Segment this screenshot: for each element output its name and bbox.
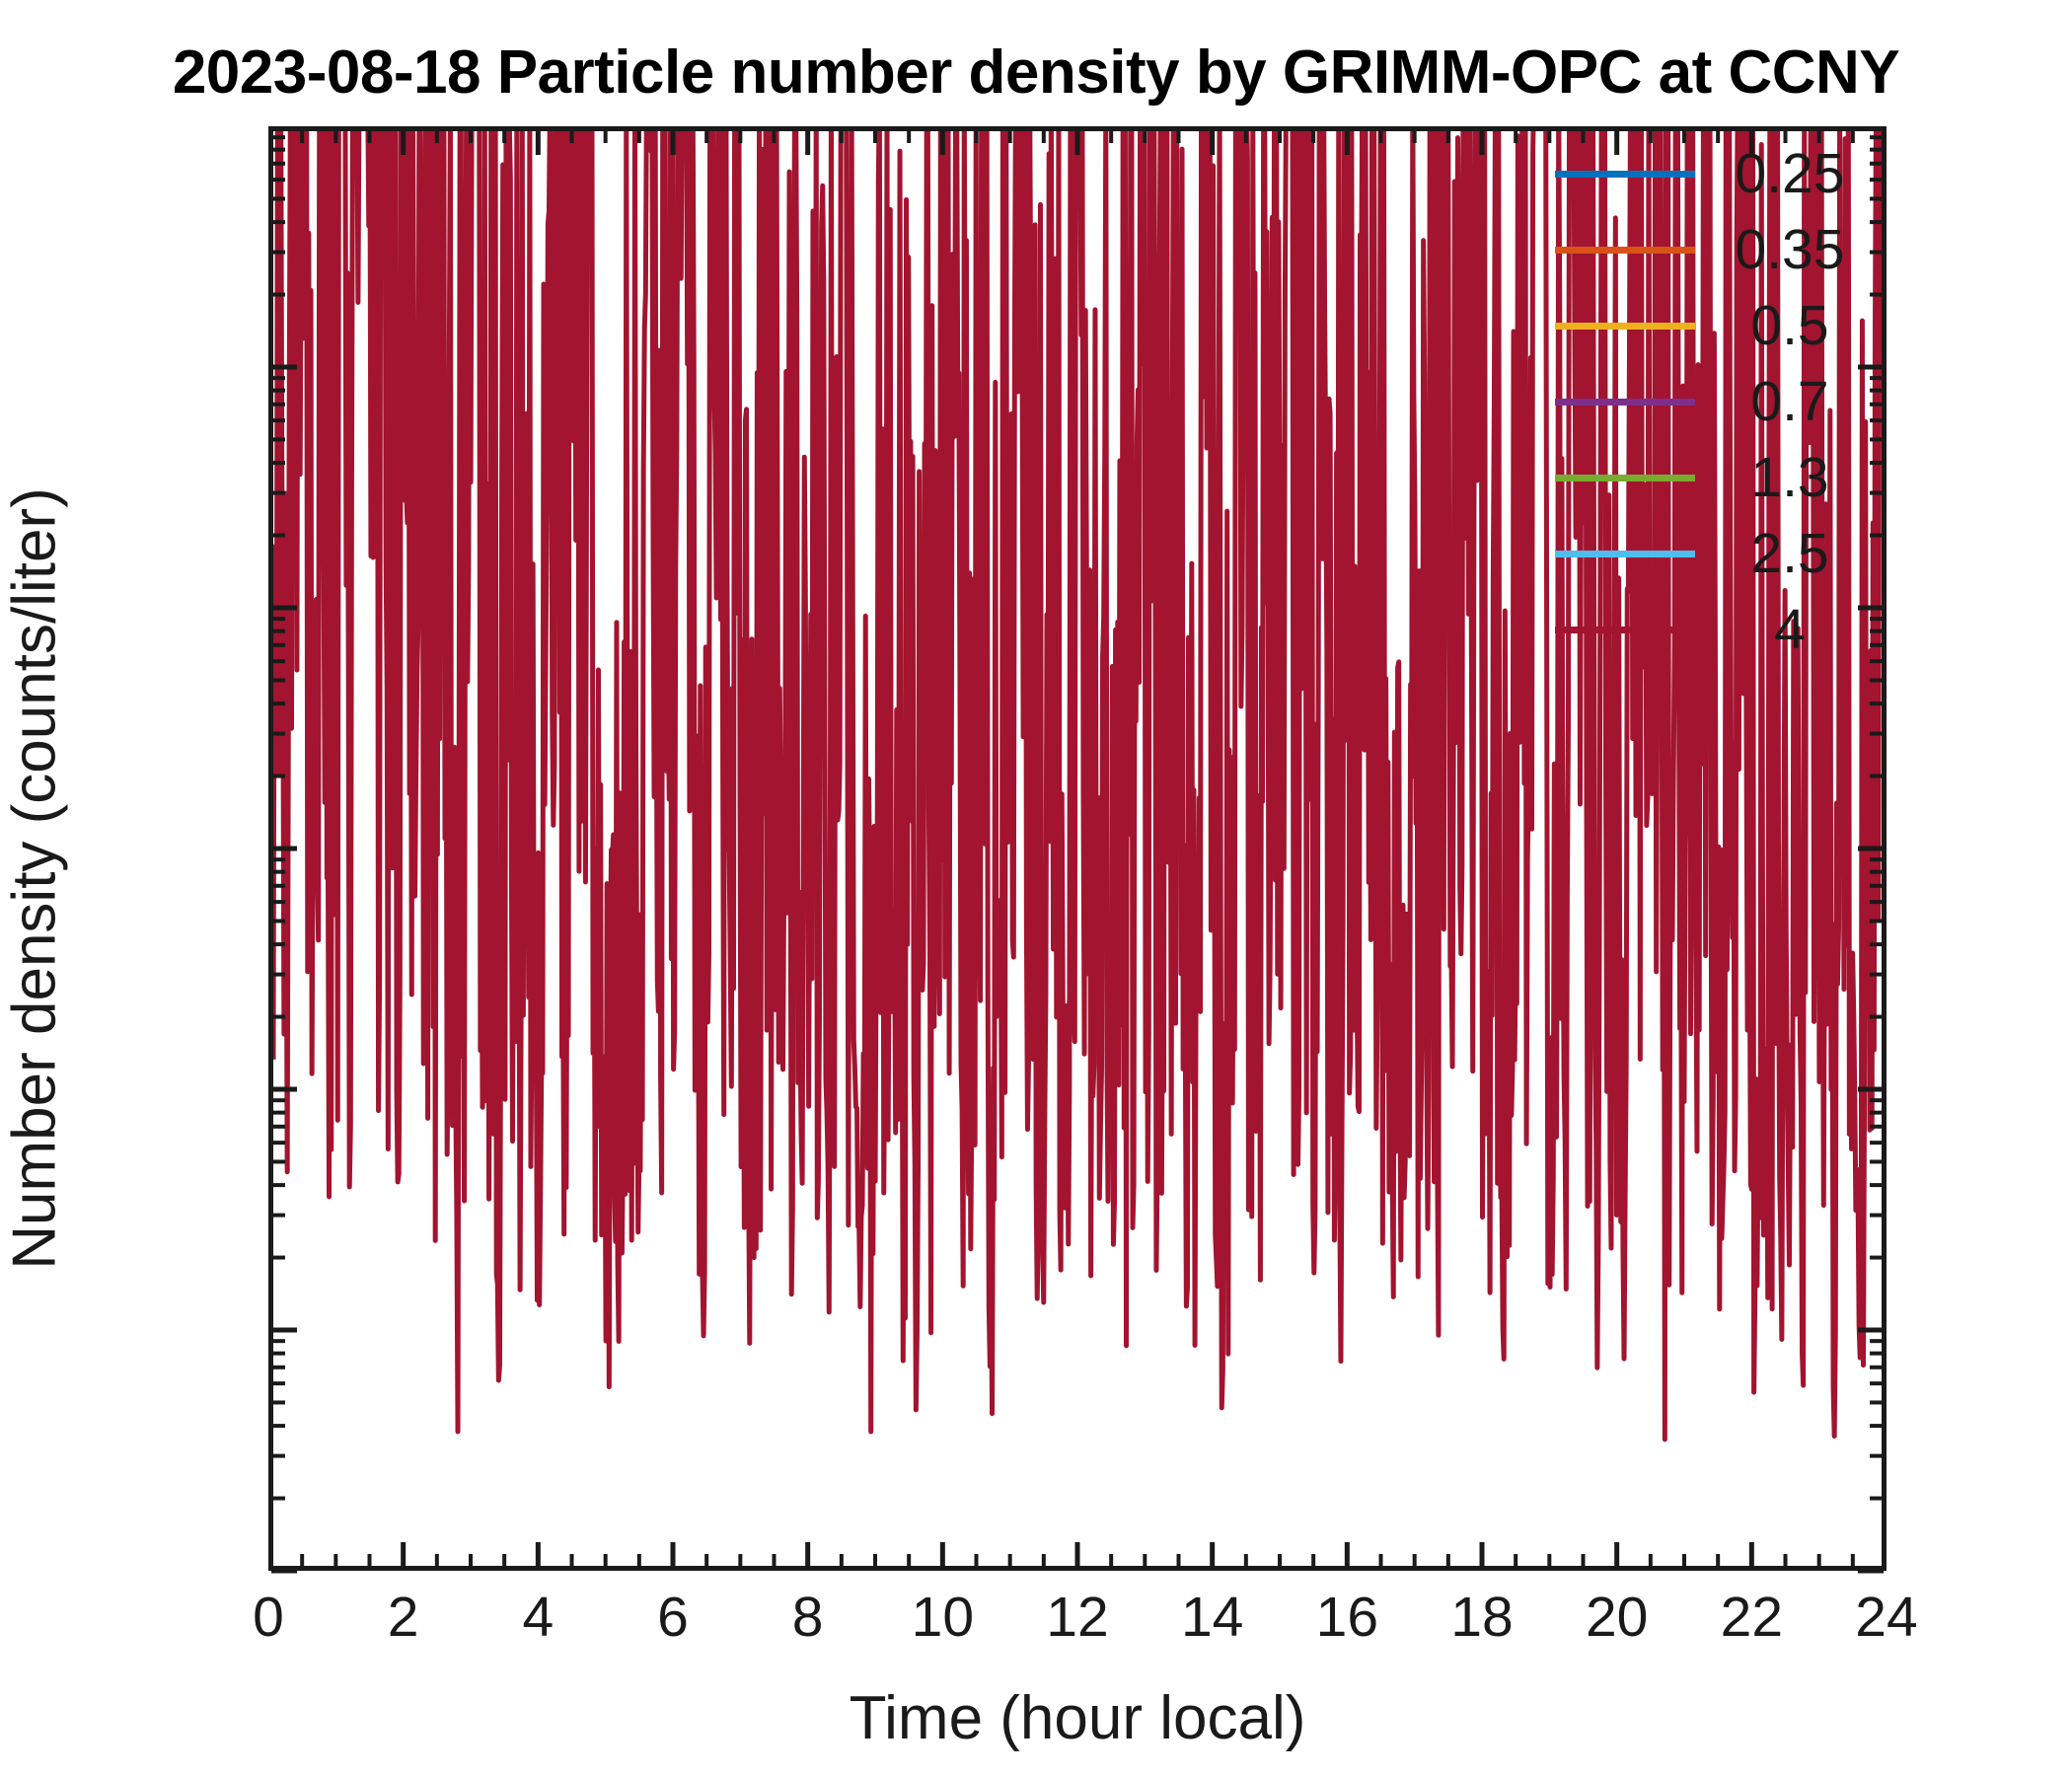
legend-line-swatch: [1555, 247, 1695, 254]
legend-item-0-5[interactable]: 0.5: [1555, 288, 1881, 364]
chart-title: 2023-08-18 Particle number density by GR…: [0, 37, 2072, 108]
legend-line-swatch: [1555, 171, 1695, 178]
x-tick-label: 4: [522, 1585, 554, 1650]
y-axis-title: Number density (counts/liter): [0, 164, 70, 1594]
legend-item-4[interactable]: 4: [1555, 592, 1881, 668]
x-tick-label: 14: [1181, 1585, 1243, 1650]
legend-item-0-35[interactable]: 0.35: [1555, 212, 1881, 288]
figure-canvas: 2023-08-18 Particle number density by GR…: [0, 0, 2072, 1776]
legend-line-swatch: [1555, 323, 1695, 330]
x-tick-label: 10: [912, 1585, 974, 1650]
x-axis-title: Time (hour local): [268, 1683, 1887, 1753]
x-tick-label: 24: [1855, 1585, 1917, 1650]
legend-item-0-7[interactable]: 0.7: [1555, 364, 1881, 440]
x-axis-tick-labels: 024681012141618202224: [0, 1585, 2072, 1673]
legend-item-0-25[interactable]: 0.25: [1555, 136, 1881, 212]
x-tick-label: 16: [1316, 1585, 1378, 1650]
legend-line-swatch: [1555, 475, 1695, 481]
legend-item-1-3[interactable]: 1.3: [1555, 440, 1881, 516]
legend-line-swatch: [1555, 627, 1695, 633]
legend-label: 1.3: [1695, 450, 1881, 506]
x-tick-label: 6: [657, 1585, 689, 1650]
chart-legend: 0.250.350.50.71.32.54: [1555, 136, 1881, 668]
x-tick-label: 22: [1721, 1585, 1783, 1650]
legend-label: 0.5: [1695, 298, 1881, 354]
x-tick-label: 12: [1046, 1585, 1108, 1650]
legend-label: 0.25: [1695, 146, 1881, 202]
x-tick-label: 2: [388, 1585, 419, 1650]
legend-item-2-5[interactable]: 2.5: [1555, 516, 1881, 592]
legend-label: 2.5: [1695, 526, 1881, 582]
x-tick-label: 18: [1450, 1585, 1513, 1650]
legend-line-swatch: [1555, 399, 1695, 406]
x-tick-label: 8: [792, 1585, 824, 1650]
x-tick-label: 0: [253, 1585, 284, 1650]
x-tick-label: 20: [1586, 1585, 1648, 1650]
legend-label: 0.35: [1695, 222, 1881, 278]
legend-label: 0.7: [1695, 374, 1881, 430]
legend-line-swatch: [1555, 551, 1695, 557]
legend-label: 4: [1695, 602, 1881, 658]
